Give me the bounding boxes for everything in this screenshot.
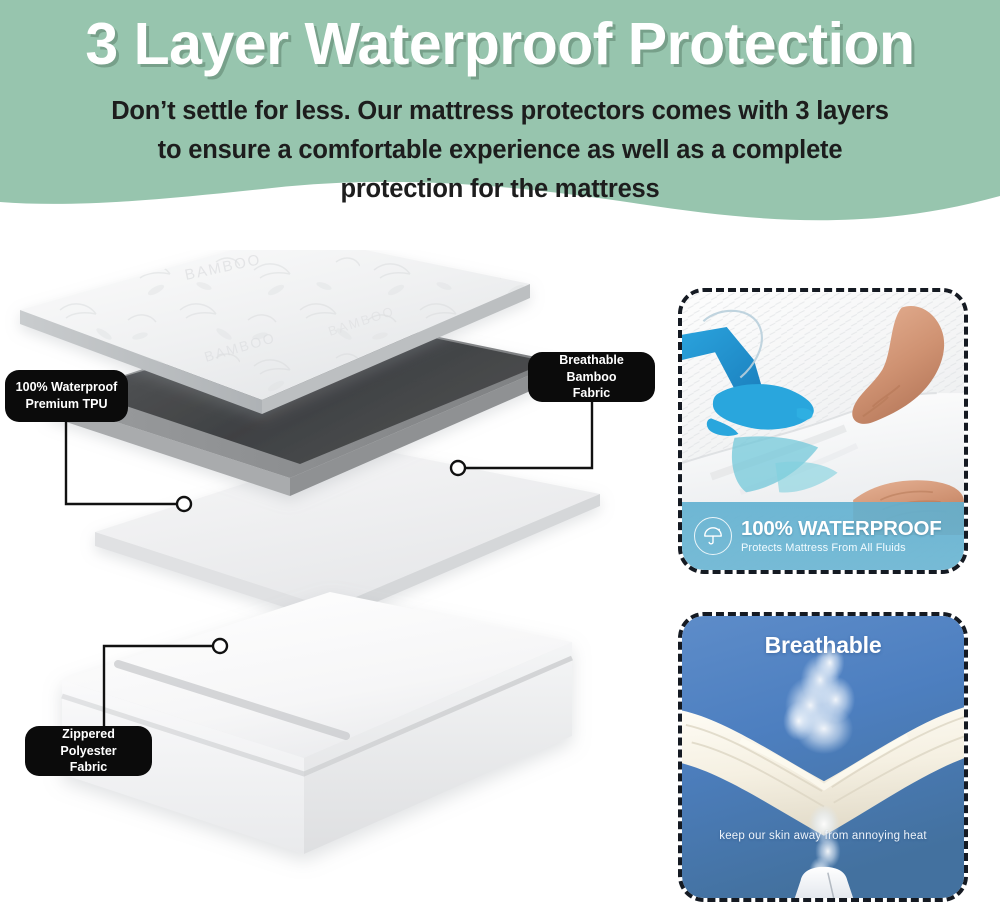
breathable-photo-panel: Breathable keep our skin away from annoy… xyxy=(678,612,968,902)
breathable-panel-title: Breathable xyxy=(682,632,964,659)
waterproof-banner-subtitle: Protects Mattress From All Fluids xyxy=(741,542,942,554)
callout-bamboo-line1: Breathable Bamboo xyxy=(537,352,646,386)
header-banner: 3 Layer Waterproof Protection Don’t sett… xyxy=(0,0,1000,232)
callout-zippered-polyester: Zippered Polyester Fabric xyxy=(25,726,152,776)
zippered-polyester-sheet xyxy=(95,446,600,622)
page-title: 3 Layer Waterproof Protection xyxy=(0,14,1000,76)
callout-zip-line2: Fabric xyxy=(34,759,143,776)
header-text-block: 3 Layer Waterproof Protection Don’t sett… xyxy=(0,0,1000,210)
subtitle-line-2: to ensure a comfortable experience as we… xyxy=(70,131,930,170)
leader-dot-bamboo xyxy=(451,461,465,475)
subtitle-line-3: protection for the mattress xyxy=(70,170,930,209)
waterproof-photo-inner: 100% WATERPROOF Protects Mattress From A… xyxy=(682,292,964,570)
callout-tpu-line1: 100% Waterproof xyxy=(16,379,118,396)
mattress-base-box xyxy=(62,592,572,854)
leader-dot-tpu xyxy=(177,497,191,511)
waterproof-photo-panel: 100% WATERPROOF Protects Mattress From A… xyxy=(678,288,968,574)
leader-dot-zipper xyxy=(213,639,227,653)
umbrella-icon xyxy=(694,517,732,555)
exploded-layer-diagram: BAMBOO BAMBOO BAMBOO xyxy=(0,250,660,913)
callout-zip-line1: Zippered Polyester xyxy=(34,726,143,760)
waterproof-banner-text: 100% WATERPROOF Protects Mattress From A… xyxy=(741,518,942,555)
page-subtitle: Don’t settle for less. Our mattress prot… xyxy=(70,92,930,208)
callout-bamboo-line2: Fabric xyxy=(537,385,646,402)
exploded-layer-illustration: BAMBOO BAMBOO BAMBOO xyxy=(0,250,660,913)
callout-waterproof-tpu: 100% Waterproof Premium TPU xyxy=(5,370,128,422)
infographic-page: 3 Layer Waterproof Protection Don’t sett… xyxy=(0,0,1000,913)
breathable-panel-caption: keep our skin away from annoying heat xyxy=(682,830,964,842)
waterproof-banner: 100% WATERPROOF Protects Mattress From A… xyxy=(682,502,964,570)
subtitle-line-1: Don’t settle for less. Our mattress prot… xyxy=(70,92,930,131)
callout-breathable-bamboo: Breathable Bamboo Fabric xyxy=(528,352,655,402)
waterproof-banner-title: 100% WATERPROOF xyxy=(741,518,942,541)
breathable-photo-inner: Breathable keep our skin away from annoy… xyxy=(682,616,964,898)
callout-tpu-line2: Premium TPU xyxy=(16,396,118,413)
